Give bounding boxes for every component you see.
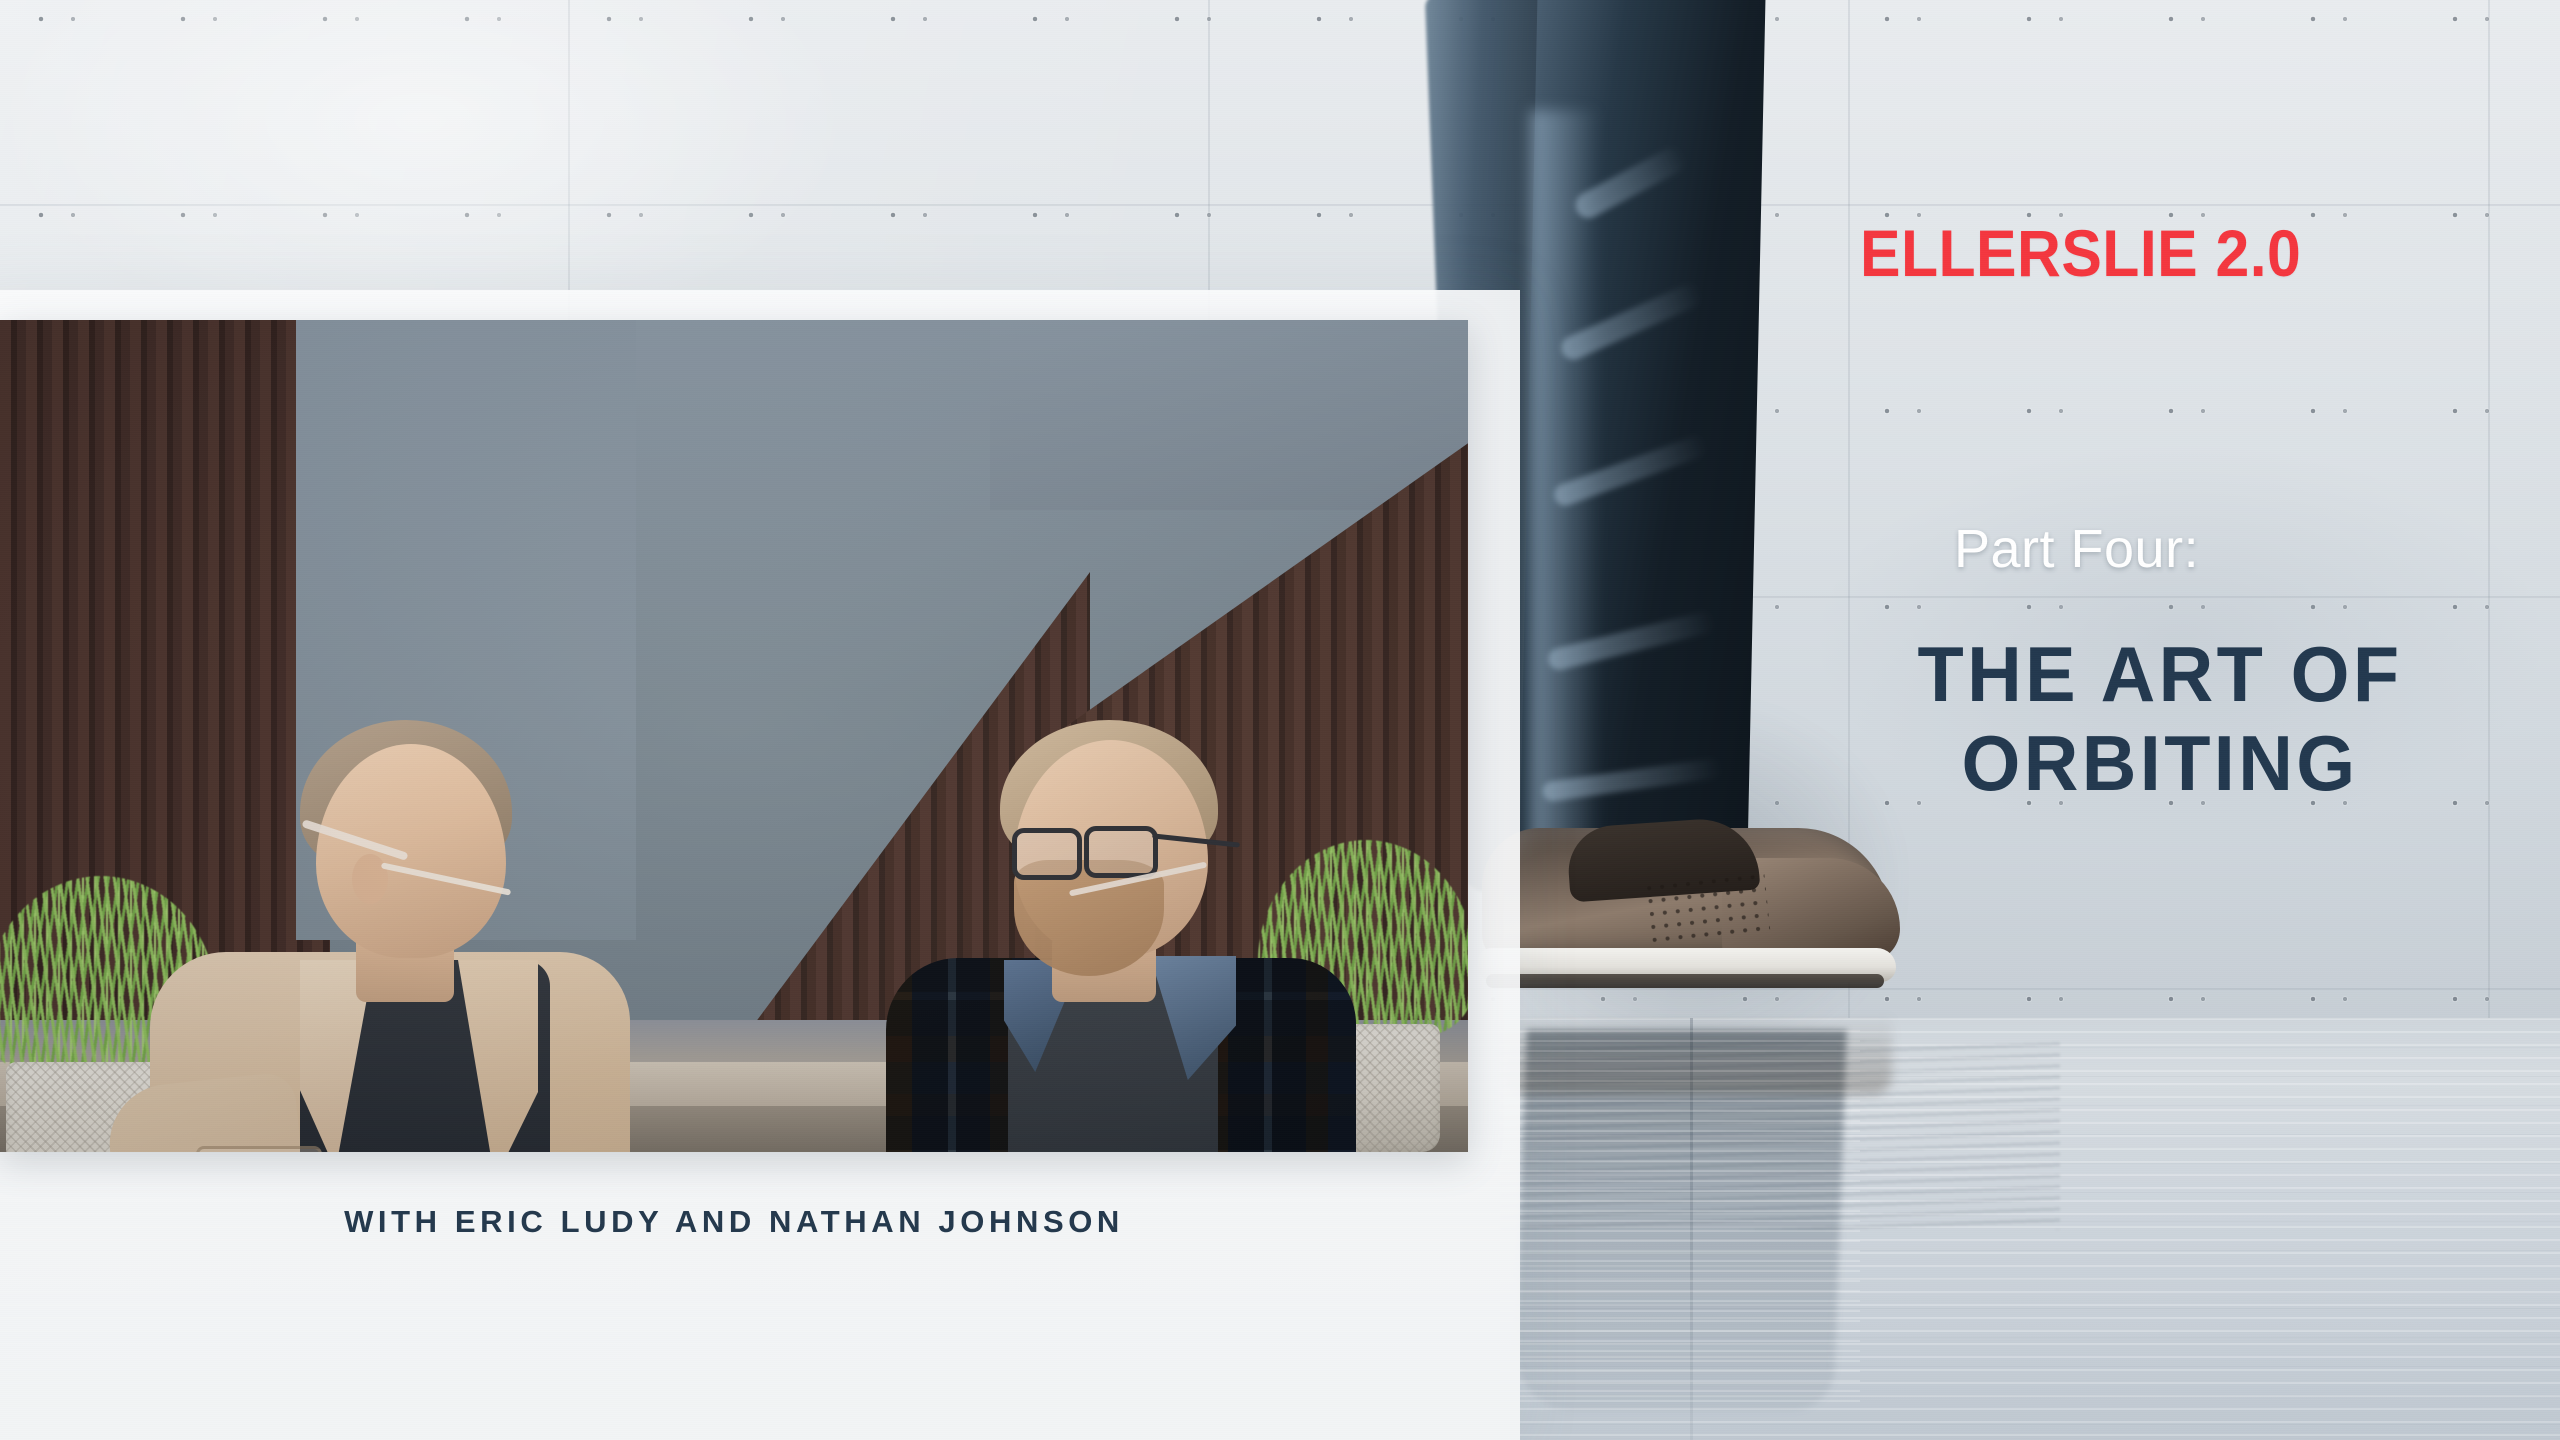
studio-wall-upper-right bbox=[990, 320, 1468, 510]
hosts-caption: WITH ERIC LUDY AND NATHAN JOHNSON bbox=[0, 1204, 1468, 1240]
title-card: ELLERSLIE 2.0 Part Four: THE ART OF ORBI… bbox=[0, 0, 2560, 1440]
left-speaker-pocket bbox=[196, 1146, 322, 1152]
glasses-icon bbox=[1084, 826, 1158, 878]
episode-title-line-1: THE ART OF bbox=[1821, 630, 2500, 719]
shoe-outsole bbox=[1486, 974, 1884, 988]
glasses-icon bbox=[1012, 828, 1082, 880]
video-thumbnail[interactable] bbox=[0, 320, 1468, 1152]
shoe-reflection bbox=[1502, 994, 1892, 1094]
episode-title-line-2: ORBITING bbox=[1821, 719, 2500, 808]
part-label: Part Four: bbox=[1954, 518, 2199, 580]
leather-sneaker bbox=[1472, 822, 1902, 1012]
episode-title: THE ART OF ORBITING bbox=[1821, 630, 2500, 808]
series-title: ELLERSLIE 2.0 bbox=[1860, 215, 2301, 291]
shoe-perforations bbox=[1647, 874, 1771, 950]
left-speaker-ear bbox=[352, 854, 388, 904]
